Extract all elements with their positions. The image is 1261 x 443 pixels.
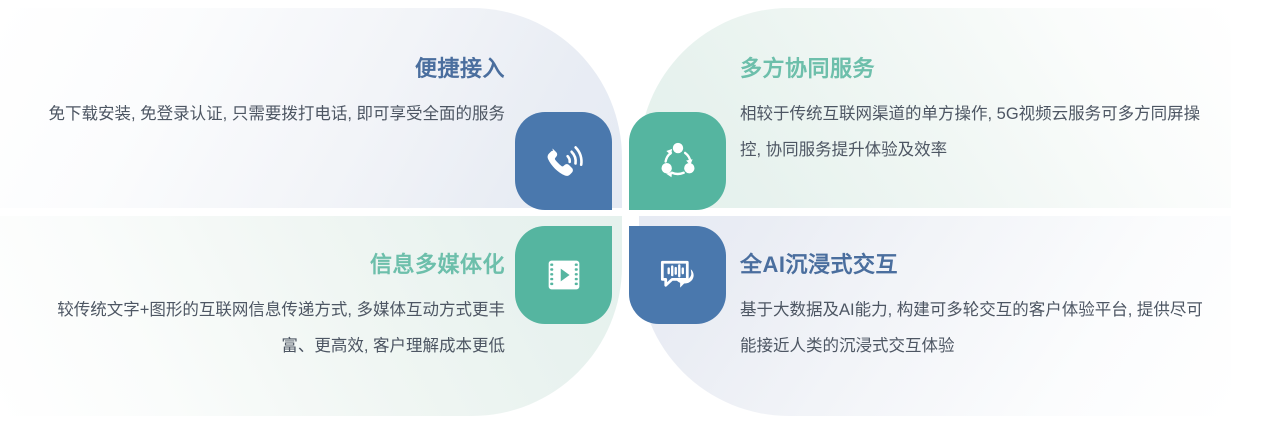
icon-tile-bottom-right [629,226,726,324]
feature-title-bottom-right: 全AI沉浸式交互 [740,252,1205,278]
feature-title-top-right: 多方协同服务 [740,56,1205,82]
feature-text-top-right: 多方协同服务 相较于传统互联网渠道的单方操作, 5G视频云服务可多方同屏操控, … [740,56,1205,168]
feature-body-bottom-right: 基于大数据及AI能力, 构建可多轮交互的客户体验平台, 提供尽可能接近人类的沉浸… [740,292,1205,364]
video-film-play-icon [541,252,587,298]
feature-text-bottom-left: 信息多媒体化 较传统文字+图形的互联网信息传递方式, 多媒体互动方式更丰富、更高… [40,252,505,364]
feature-text-top-left: 便捷接入 免下载安装, 免登录认证, 只需要拨打电话, 即可享受全面的服务 [40,56,505,132]
feature-title-bottom-left: 信息多媒体化 [40,252,505,278]
feature-text-bottom-right: 全AI沉浸式交互 基于大数据及AI能力, 构建可多轮交互的客户体验平台, 提供尽… [740,252,1205,364]
feature-body-bottom-left: 较传统文字+图形的互联网信息传递方式, 多媒体互动方式更丰富、更高效, 客户理解… [40,292,505,364]
icon-tile-top-left [515,112,612,210]
icon-tile-top-right [629,112,726,210]
feature-body-top-right: 相较于传统互联网渠道的单方操作, 5G视频云服务可多方同屏操控, 协同服务提升体… [740,96,1205,168]
feature-body-top-left: 免下载安装, 免登录认证, 只需要拨打电话, 即可享受全面的服务 [40,96,505,132]
feature-title-top-left: 便捷接入 [40,56,505,82]
collaboration-cycle-icon [655,138,701,184]
voice-chat-bubble-icon [654,252,701,299]
feature-quadrant-diagram: 便捷接入 免下载安装, 免登录认证, 只需要拨打电话, 即可享受全面的服务 多方… [0,0,1261,443]
phone-signal-icon [540,137,588,185]
icon-tile-bottom-left [515,226,612,324]
